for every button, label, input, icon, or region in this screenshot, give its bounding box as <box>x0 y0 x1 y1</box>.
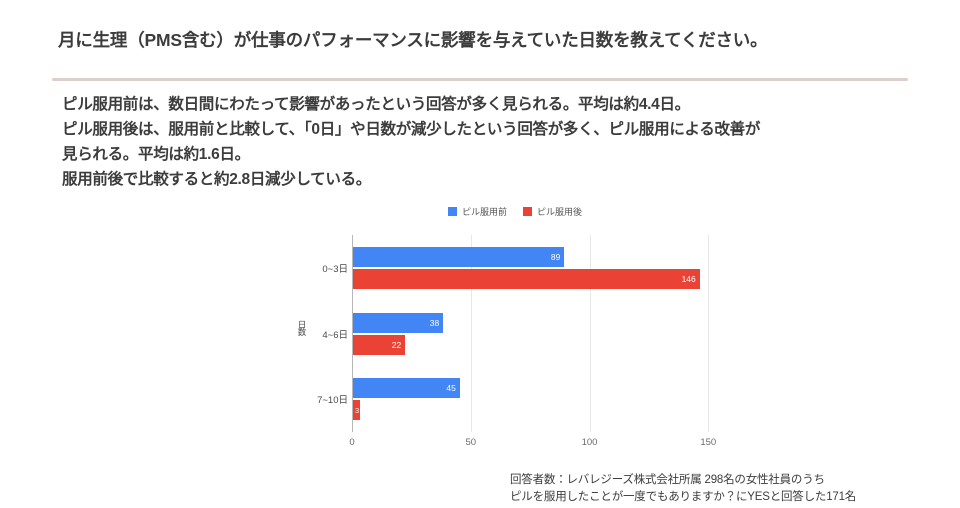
bar-value-label: 146 <box>682 274 700 284</box>
y-axis-category-label: 4~6日 <box>322 327 348 341</box>
legend-label-before: ピル服用前 <box>462 205 507 218</box>
gridline <box>590 235 591 432</box>
body-copy-line-2: ピル服用後は、服用前と比較して、「0日」や日数が減少したという回答が多く、ピル服… <box>62 117 922 142</box>
y-axis-category-label: 0~3日 <box>322 261 348 275</box>
bar-value-label: 22 <box>392 340 405 350</box>
body-copy-line-4: 服用前後で比較すると約2.8日減少している。 <box>62 167 922 192</box>
page-title: 月に生理（PMS含む）が仕事のパフォーマンスに影響を与えていた日数を教えてくださ… <box>58 27 767 52</box>
bar-after[interactable]: 146 <box>353 269 700 289</box>
footnote-line-2: ピルを服用したことが一度でもありますか？にYESと回答した171名 <box>510 489 856 506</box>
bar-before[interactable]: 89 <box>353 247 564 267</box>
bar-after[interactable]: 22 <box>353 335 405 355</box>
legend-label-after: ピル服用後 <box>537 205 582 218</box>
bar-value-label: 45 <box>446 383 459 393</box>
y-axis-title: 日数 <box>296 320 308 335</box>
legend-swatch-icon-before <box>448 207 457 216</box>
bar-after[interactable]: 3 <box>353 400 360 420</box>
legend-item-before[interactable]: ピル服用前 <box>448 205 507 218</box>
legend-swatch-icon-after <box>523 207 532 216</box>
bar-value-label: 38 <box>430 318 443 328</box>
gridline <box>708 235 709 432</box>
bar-chart: ピル服用前 ピル服用後 日数 0501001500~3日891464~6日382… <box>250 200 780 470</box>
footnote-line-1: 回答者数：レバレジーズ株式会社所属 298名の女性社員のうち <box>510 472 856 489</box>
bar-before[interactable]: 45 <box>353 378 460 398</box>
body-copy: ピル服用前は、数日間にわたって影響があったという回答が多く見られる。平均は約4.… <box>62 92 922 192</box>
x-axis-tick-label: 50 <box>465 437 476 448</box>
body-copy-line-3: 見られる。平均は約1.6日。 <box>62 142 922 167</box>
x-axis-tick-label: 0 <box>349 437 354 448</box>
header-divider <box>52 78 908 81</box>
bar-value-label: 3 <box>355 406 360 415</box>
legend-item-after[interactable]: ピル服用後 <box>523 205 582 218</box>
body-copy-line-1: ピル服用前は、数日間にわたって影響があったという回答が多く見られる。平均は約4.… <box>62 92 922 117</box>
chart-legend: ピル服用前 ピル服用後 <box>250 205 780 218</box>
plot-area: 0501001500~3日891464~6日38227~10日453 <box>352 235 732 432</box>
x-axis-tick-label: 150 <box>700 437 716 448</box>
footnote: 回答者数：レバレジーズ株式会社所属 298名の女性社員のうち ピルを服用したこと… <box>510 472 856 505</box>
bar-value-label: 89 <box>551 252 564 262</box>
bar-before[interactable]: 38 <box>353 313 443 333</box>
y-axis-category-label: 7~10日 <box>317 392 348 406</box>
x-axis-tick-label: 100 <box>582 437 598 448</box>
